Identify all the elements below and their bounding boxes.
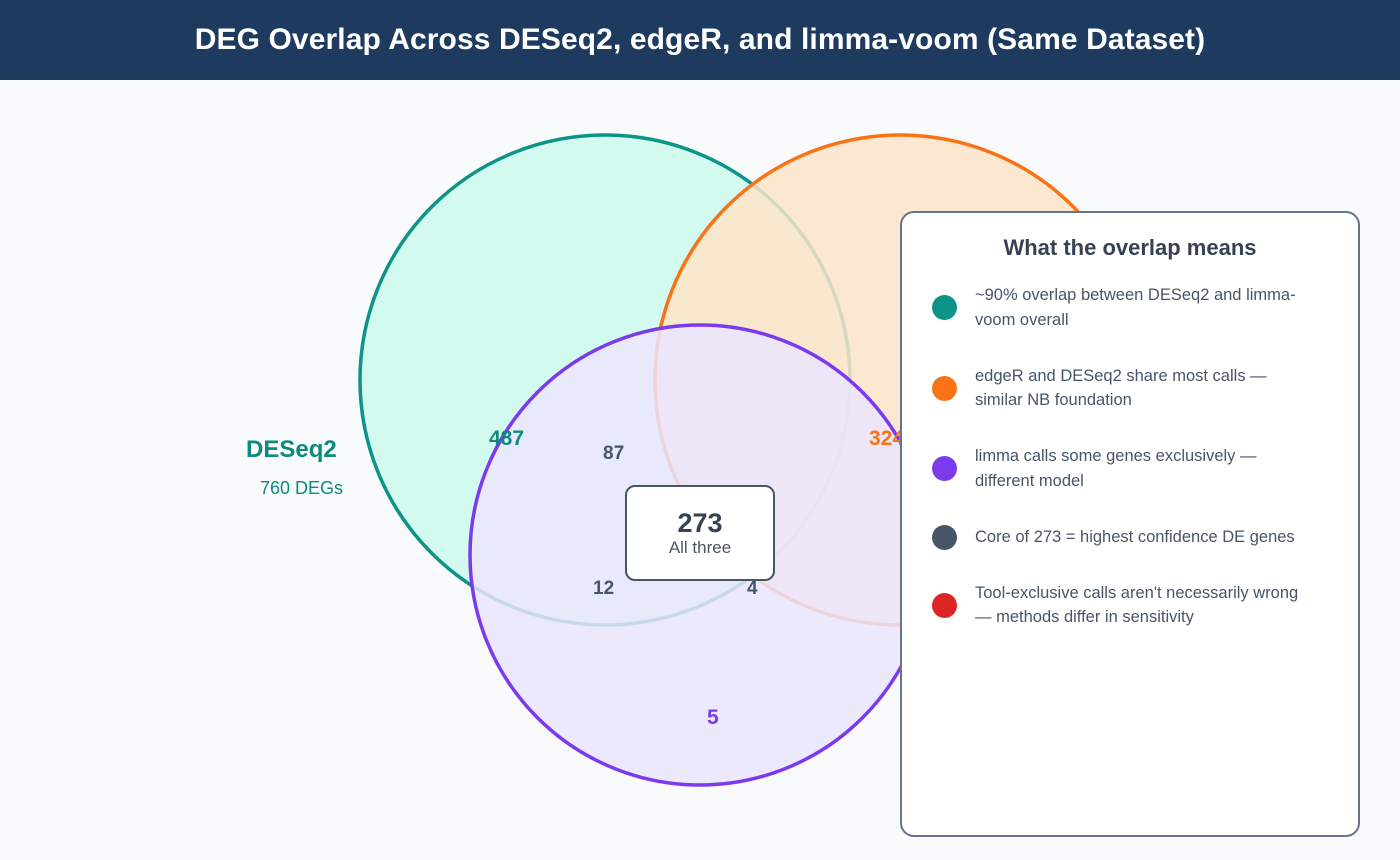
legend-item-label: ~90% overlap between DESeq2 and limma-vo… xyxy=(975,283,1305,333)
legend-item-label: Core of 273 = highest confidence DE gene… xyxy=(975,525,1295,550)
legend-item-label: edgeR and DESeq2 share most calls — simi… xyxy=(975,364,1305,414)
legend-color-dot xyxy=(932,295,957,320)
legend-item-list: ~90% overlap between DESeq2 and limma-vo… xyxy=(928,283,1332,630)
legend-item: Tool-exclusive calls aren't necessarily … xyxy=(928,581,1332,631)
legend-item-label: Tool-exclusive calls aren't necessarily … xyxy=(975,581,1305,631)
all-three-callout: 273 All three xyxy=(625,485,775,581)
legend-item: edgeR and DESeq2 share most calls — simi… xyxy=(928,364,1332,414)
legend-color-dot xyxy=(932,593,957,618)
legend-color-dot xyxy=(932,456,957,481)
legend-item: Core of 273 = highest confidence DE gene… xyxy=(928,525,1332,550)
legend-item: limma calls some genes exclusively — dif… xyxy=(928,444,1332,494)
legend-item-label: limma calls some genes exclusively — dif… xyxy=(975,444,1305,494)
venn-diagram: DESeq2 760 DEGs limma-voom 278 DEGs 487 … xyxy=(0,80,1400,860)
all-three-count: 273 xyxy=(677,510,722,537)
legend-color-dot xyxy=(932,525,957,550)
page-header: DEG Overlap Across DESeq2, edgeR, and li… xyxy=(0,0,1400,80)
legend-panel: What the overlap means ~90% overlap betw… xyxy=(900,211,1360,837)
all-three-caption: All three xyxy=(669,539,731,556)
legend-item: ~90% overlap between DESeq2 and limma-vo… xyxy=(928,283,1332,333)
legend-title: What the overlap means xyxy=(928,235,1332,261)
venn-diagram-page: DEG Overlap Across DESeq2, edgeR, and li… xyxy=(0,0,1400,860)
page-title: DEG Overlap Across DESeq2, edgeR, and li… xyxy=(195,23,1206,57)
legend-color-dot xyxy=(932,376,957,401)
